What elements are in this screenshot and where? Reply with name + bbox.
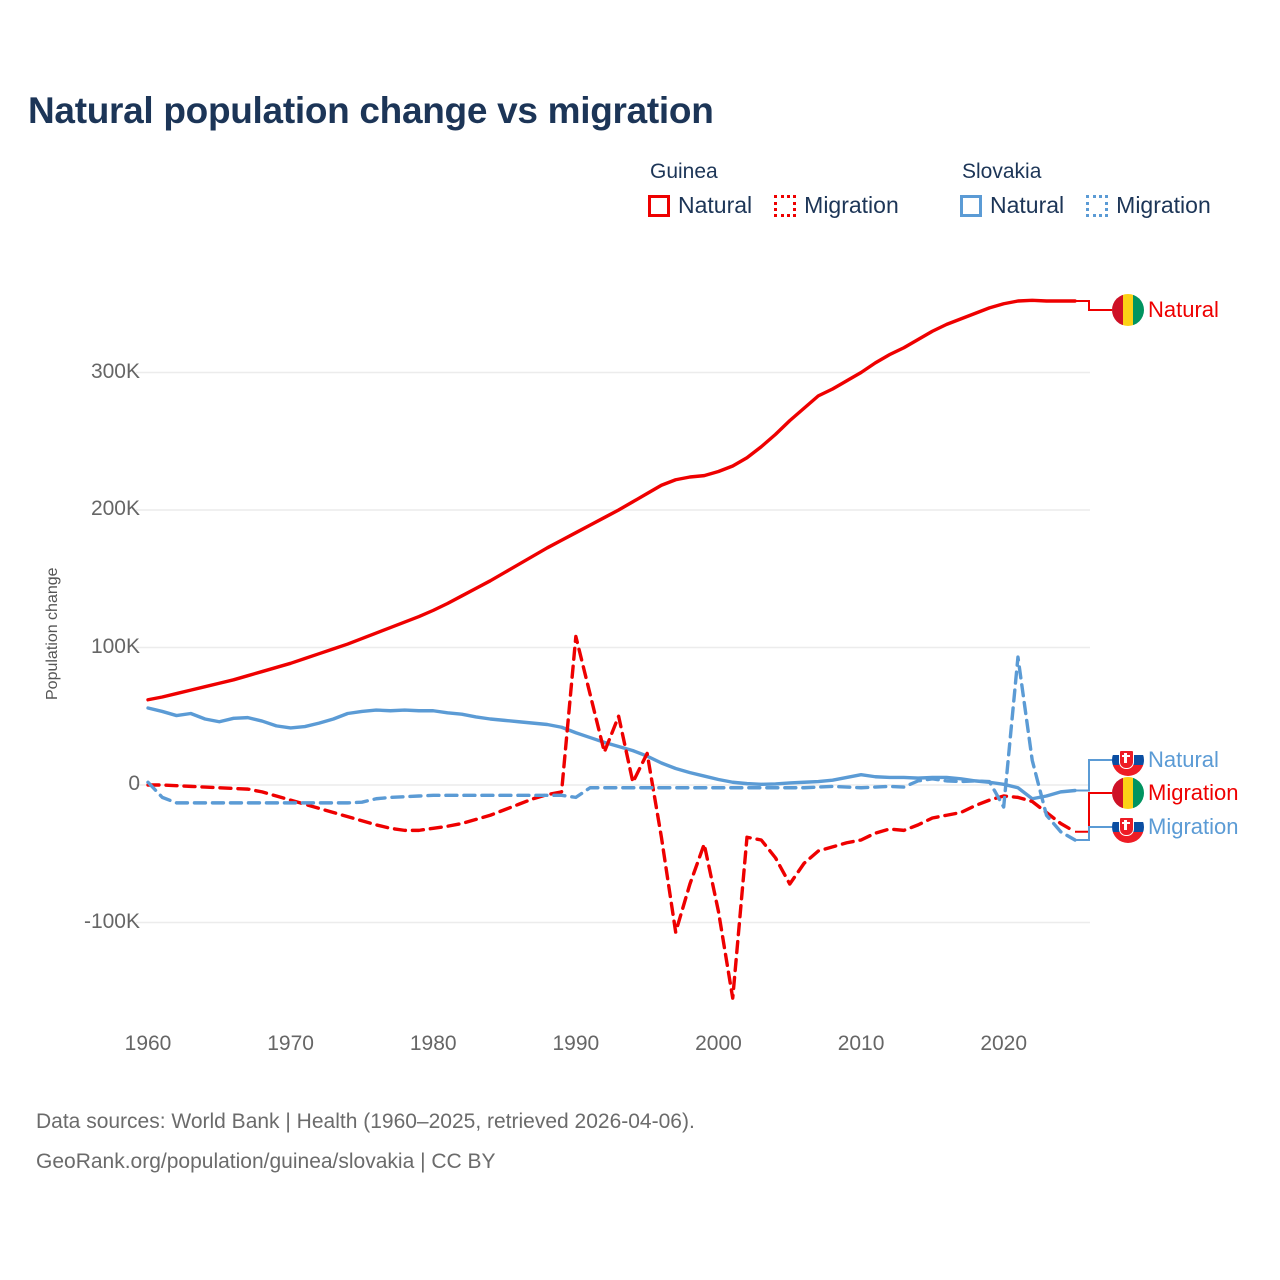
x-tick-label: 1970 xyxy=(267,1032,314,1056)
guinea-flag-icon xyxy=(1112,777,1144,809)
y-tick-label: -100K xyxy=(84,910,140,934)
series-end-label: Natural xyxy=(1148,297,1219,323)
plot-area xyxy=(0,0,1280,1010)
y-tick-label: 100K xyxy=(91,635,140,659)
series-line-guinea-migration xyxy=(148,637,1075,999)
slovakia-flag-icon xyxy=(1112,811,1144,843)
y-tick-label: 300K xyxy=(91,360,140,384)
y-tick-label: 200K xyxy=(91,497,140,521)
guinea-flag-icon xyxy=(1112,294,1144,326)
x-tick-label: 1980 xyxy=(410,1032,457,1056)
x-tick-label: 2020 xyxy=(980,1032,1027,1056)
x-tick-label: 1990 xyxy=(552,1032,599,1056)
series-end-label: Migration xyxy=(1148,814,1238,840)
chart-container: Natural population change vs migration G… xyxy=(0,0,1280,1280)
x-tick-label: 1960 xyxy=(125,1032,172,1056)
series-line-slovakia-migration xyxy=(148,657,1075,840)
y-tick-label: 0 xyxy=(128,772,140,796)
series-end-label: Migration xyxy=(1148,780,1238,806)
series-leader-line xyxy=(1075,301,1112,310)
series-end-label: Natural xyxy=(1148,747,1219,773)
footer-data-sources: Data sources: World Bank | Health (1960–… xyxy=(36,1110,695,1134)
x-tick-label: 2000 xyxy=(695,1032,742,1056)
series-leader-line xyxy=(1075,793,1112,832)
slovakia-flag-icon xyxy=(1112,744,1144,776)
series-leader-line xyxy=(1075,760,1112,791)
series-line-guinea-natural xyxy=(148,300,1075,699)
x-tick-label: 2010 xyxy=(838,1032,885,1056)
footer-attribution: GeoRank.org/population/guinea/slovakia |… xyxy=(36,1150,496,1174)
series-leader-line xyxy=(1075,827,1112,840)
